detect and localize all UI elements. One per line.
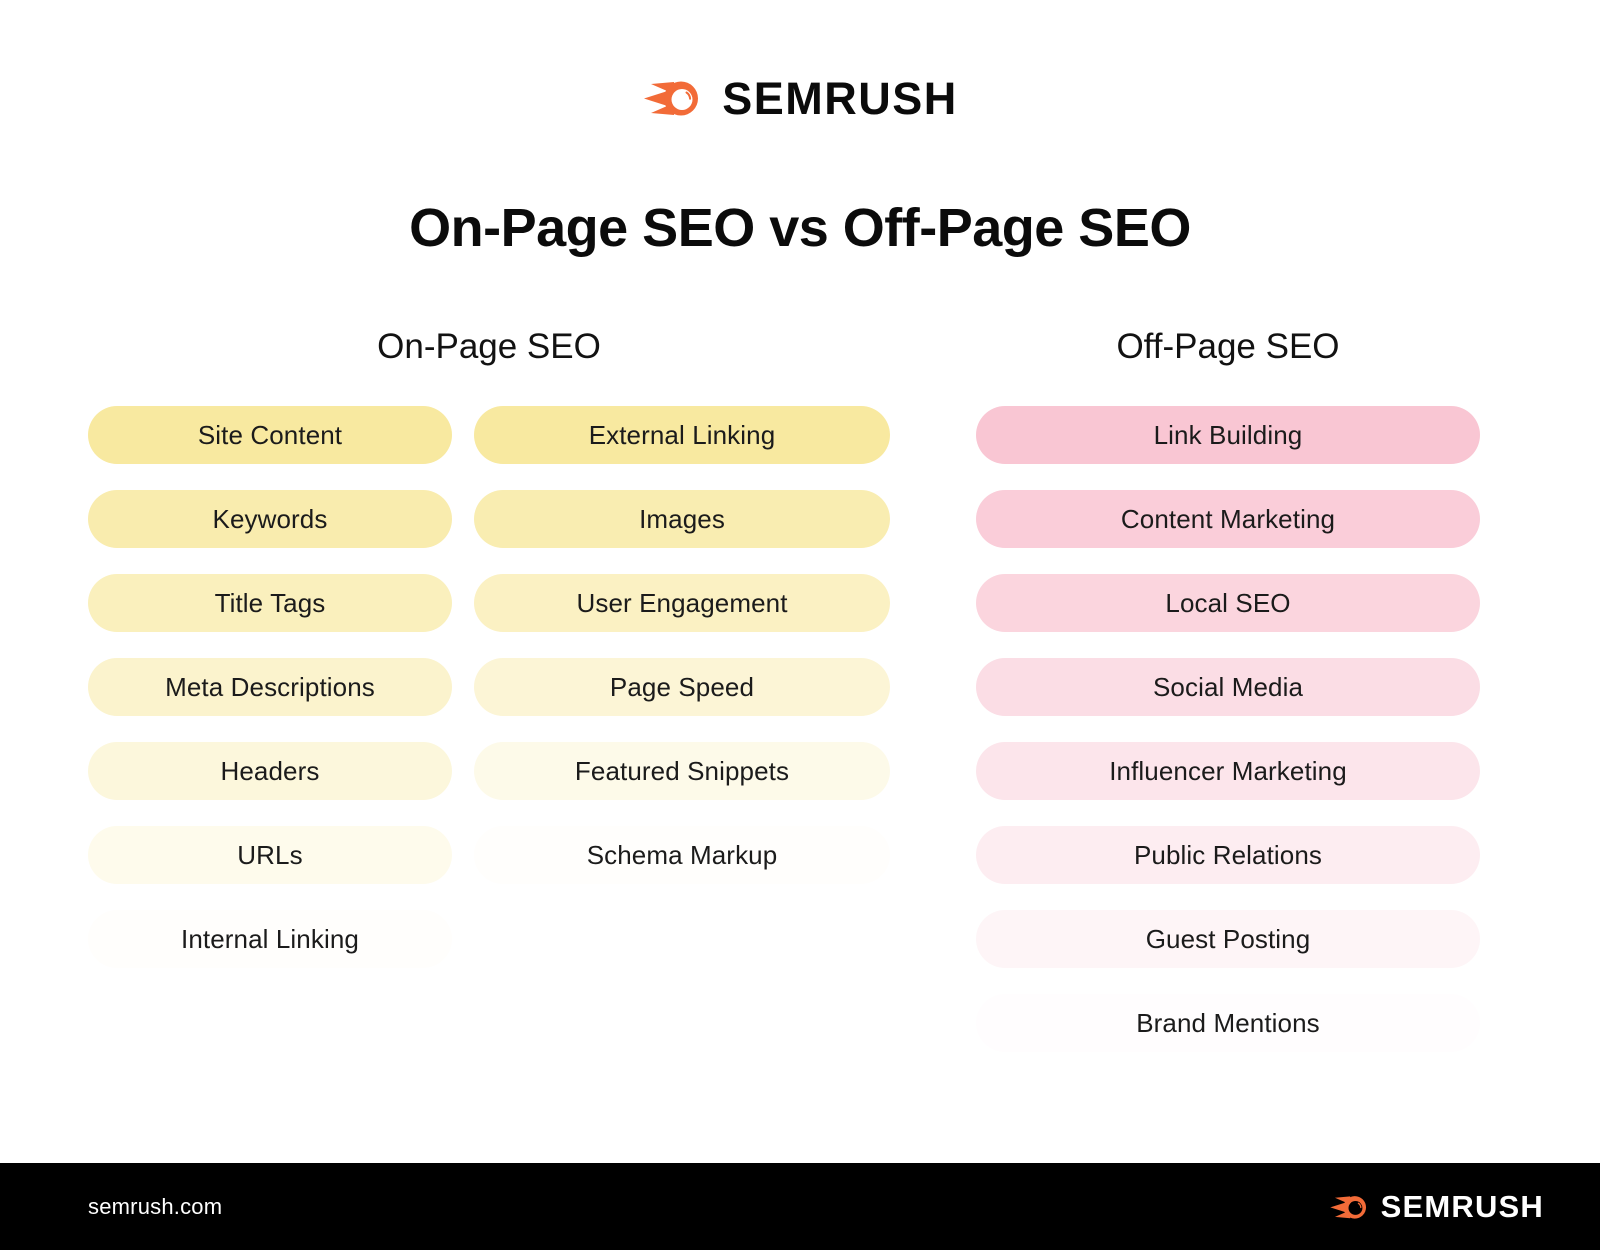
pill-label: Site Content bbox=[198, 420, 342, 451]
pill-label: Social Media bbox=[1153, 672, 1303, 703]
pill-item[interactable]: URLs bbox=[88, 826, 452, 884]
on-page-column-1: Site ContentKeywordsTitle TagsMeta Descr… bbox=[88, 406, 452, 994]
footer-brand: SEMRUSH bbox=[1329, 1191, 1544, 1223]
pill-item[interactable]: Featured Snippets bbox=[474, 742, 890, 800]
section-header-off-page: Off-Page SEO bbox=[976, 327, 1480, 367]
pill-label: Brand Mentions bbox=[1136, 1008, 1320, 1039]
pill-label: Keywords bbox=[213, 504, 328, 535]
pill-item[interactable]: Guest Posting bbox=[976, 910, 1480, 968]
on-page-column-2: External LinkingImagesUser EngagementPag… bbox=[474, 406, 890, 910]
pill-label: Public Relations bbox=[1134, 840, 1322, 871]
pill-label: Influencer Marketing bbox=[1109, 756, 1347, 787]
brand-header: SEMRUSH bbox=[0, 74, 1600, 122]
pill-label: Images bbox=[639, 504, 725, 535]
pill-label: Content Marketing bbox=[1121, 504, 1335, 535]
pill-label: Featured Snippets bbox=[575, 756, 789, 787]
pill-item[interactable]: Content Marketing bbox=[976, 490, 1480, 548]
pill-item[interactable]: User Engagement bbox=[474, 574, 890, 632]
pill-item[interactable]: Meta Descriptions bbox=[88, 658, 452, 716]
pill-item[interactable]: Headers bbox=[88, 742, 452, 800]
pill-columns: Site ContentKeywordsTitle TagsMeta Descr… bbox=[0, 406, 1600, 1066]
pill-label: Internal Linking bbox=[181, 924, 359, 955]
pill-item[interactable]: Public Relations bbox=[976, 826, 1480, 884]
pill-label: Headers bbox=[221, 756, 320, 787]
pill-label: Page Speed bbox=[610, 672, 754, 703]
pill-item[interactable]: Social Media bbox=[976, 658, 1480, 716]
pill-label: External Linking bbox=[589, 420, 776, 451]
pill-label: Link Building bbox=[1154, 420, 1303, 451]
pill-item[interactable]: Title Tags bbox=[88, 574, 452, 632]
pill-label: Meta Descriptions bbox=[165, 672, 375, 703]
pill-label: Guest Posting bbox=[1146, 924, 1311, 955]
pill-item[interactable]: Images bbox=[474, 490, 890, 548]
pill-label: URLs bbox=[237, 840, 302, 871]
section-header-on-page: On-Page SEO bbox=[88, 327, 890, 367]
pill-item[interactable]: Site Content bbox=[88, 406, 452, 464]
pill-label: User Engagement bbox=[576, 588, 787, 619]
pill-item[interactable]: Influencer Marketing bbox=[976, 742, 1480, 800]
semrush-comet-icon bbox=[642, 74, 704, 122]
pill-item[interactable]: Page Speed bbox=[474, 658, 890, 716]
pill-label: Local SEO bbox=[1165, 588, 1290, 619]
pill-item[interactable]: Link Building bbox=[976, 406, 1480, 464]
off-page-column: Link BuildingContent MarketingLocal SEOS… bbox=[976, 406, 1480, 1078]
pill-item[interactable]: External Linking bbox=[474, 406, 890, 464]
semrush-comet-icon-footer bbox=[1329, 1191, 1370, 1223]
footer-bar: semrush.com SEMRUSH bbox=[0, 1163, 1600, 1250]
brand-wordmark: SEMRUSH bbox=[722, 76, 958, 121]
pill-item[interactable]: Local SEO bbox=[976, 574, 1480, 632]
pill-item[interactable]: Internal Linking bbox=[88, 910, 452, 968]
pill-label: Schema Markup bbox=[587, 840, 778, 871]
footer-url[interactable]: semrush.com bbox=[88, 1194, 222, 1220]
pill-item[interactable]: Keywords bbox=[88, 490, 452, 548]
footer-wordmark: SEMRUSH bbox=[1381, 1191, 1544, 1222]
pill-item[interactable]: Brand Mentions bbox=[976, 994, 1480, 1052]
pill-label: Title Tags bbox=[215, 588, 326, 619]
page-title: On-Page SEO vs Off-Page SEO bbox=[0, 197, 1600, 259]
pill-item[interactable]: Schema Markup bbox=[474, 826, 890, 884]
